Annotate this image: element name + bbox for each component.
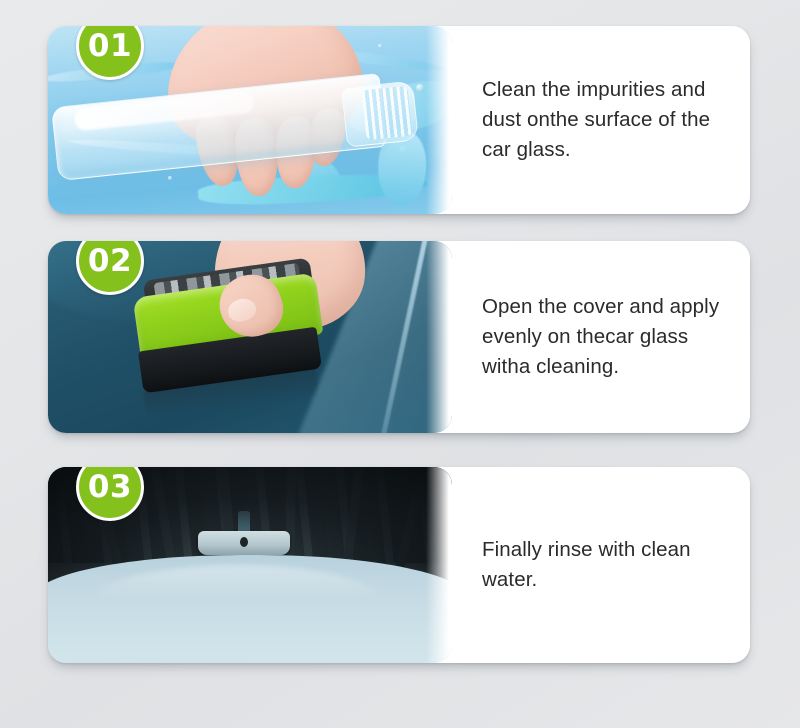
step-number-label: 03 [88, 472, 132, 503]
step-card-3: 03 Finally rinse with clean water. [48, 467, 750, 663]
step-number-label: 01 [88, 31, 132, 62]
step-card-2: 02 Open the cover and apply evenly on th… [48, 241, 750, 433]
step-3-text-panel: Finally rinse with clean water. [452, 467, 750, 663]
step-number-label: 02 [88, 246, 132, 277]
step-card-1: 01 Clean the impurities and dust onthe s… [48, 26, 750, 214]
step-3-description: Finally rinse with clean water. [482, 535, 724, 595]
step-2-description: Open the cover and apply evenly on theca… [482, 292, 724, 382]
steps-page: 01 Clean the impurities and dust onthe s… [0, 0, 800, 728]
step-1-photo: 01 [48, 26, 452, 214]
step-3-photo: 03 [48, 467, 452, 663]
step-2-text-panel: Open the cover and apply evenly on theca… [452, 241, 750, 433]
step-1-description: Clean the impurities and dust onthe surf… [482, 75, 724, 165]
water-droplet [416, 84, 424, 92]
rain-sensor [240, 537, 248, 547]
water-droplet [168, 176, 172, 180]
bottle-cap-rings [362, 86, 413, 141]
water-droplet [378, 44, 382, 48]
step-1-text-panel: Clean the impurities and dust onthe surf… [452, 26, 750, 214]
step-2-photo: 02 [48, 241, 452, 433]
